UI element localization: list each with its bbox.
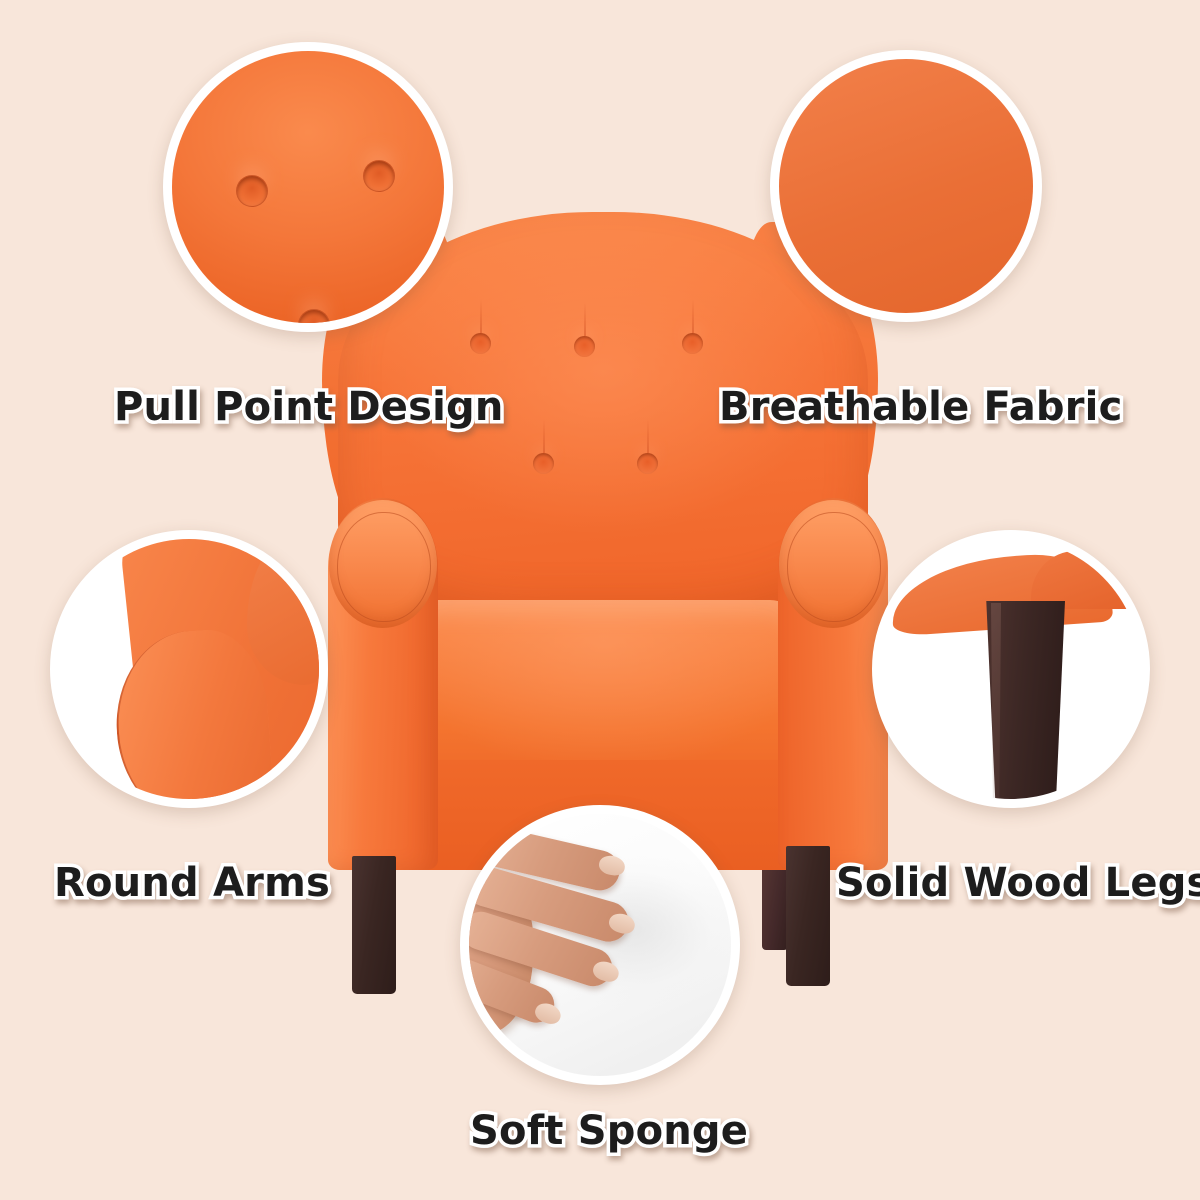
feature-label-round-arms: Round Arms bbox=[54, 860, 330, 906]
feature-label-pull-point-design: Pull Point Design bbox=[114, 384, 504, 430]
callout-tuft-button-3 bbox=[298, 309, 330, 332]
product-infographic: Pull Point Design Breathable Fabric Roun… bbox=[0, 0, 1200, 1200]
chair-leg-front-right bbox=[786, 846, 830, 986]
callout-tuft-button-1 bbox=[236, 175, 268, 207]
feature-label-breathable-fabric: Breathable Fabric bbox=[719, 384, 1122, 430]
tuft-button-upper-2 bbox=[574, 336, 595, 357]
callout-bubble-pull-point-design bbox=[163, 42, 453, 332]
breathable-fabric-swatch bbox=[779, 59, 1033, 313]
tuft-button-upper-1 bbox=[470, 333, 491, 354]
wood-leg-highlight bbox=[991, 603, 1001, 808]
feature-label-soft-sponge: Soft Sponge bbox=[470, 1108, 748, 1154]
wood-leg-fabric-skirt-right bbox=[1031, 551, 1150, 609]
feature-label-solid-wood-legs: Solid Wood Legs bbox=[836, 860, 1200, 906]
wood-leg-scene bbox=[881, 539, 1141, 799]
chair-arm-seam-left bbox=[337, 512, 431, 622]
soft-sponge-scene bbox=[469, 814, 731, 1076]
pull-point-fabric-swatch bbox=[172, 51, 444, 323]
chair-arm-seam-right bbox=[787, 512, 881, 622]
tuft-button-upper-3 bbox=[682, 333, 703, 354]
callout-tuft-button-2 bbox=[363, 160, 395, 192]
tuft-button-lower-1 bbox=[533, 453, 554, 474]
callout-bubble-breathable-fabric bbox=[770, 50, 1042, 322]
chair-leg-front-left bbox=[352, 856, 396, 994]
callout-bubble-soft-sponge bbox=[460, 805, 740, 1085]
round-arms-scene bbox=[59, 539, 319, 799]
tuft-button-lower-2 bbox=[637, 453, 658, 474]
callout-bubble-solid-wood-legs bbox=[872, 530, 1150, 808]
callout-bubble-round-arms bbox=[50, 530, 328, 808]
hand-pressing-foam bbox=[460, 832, 668, 1047]
